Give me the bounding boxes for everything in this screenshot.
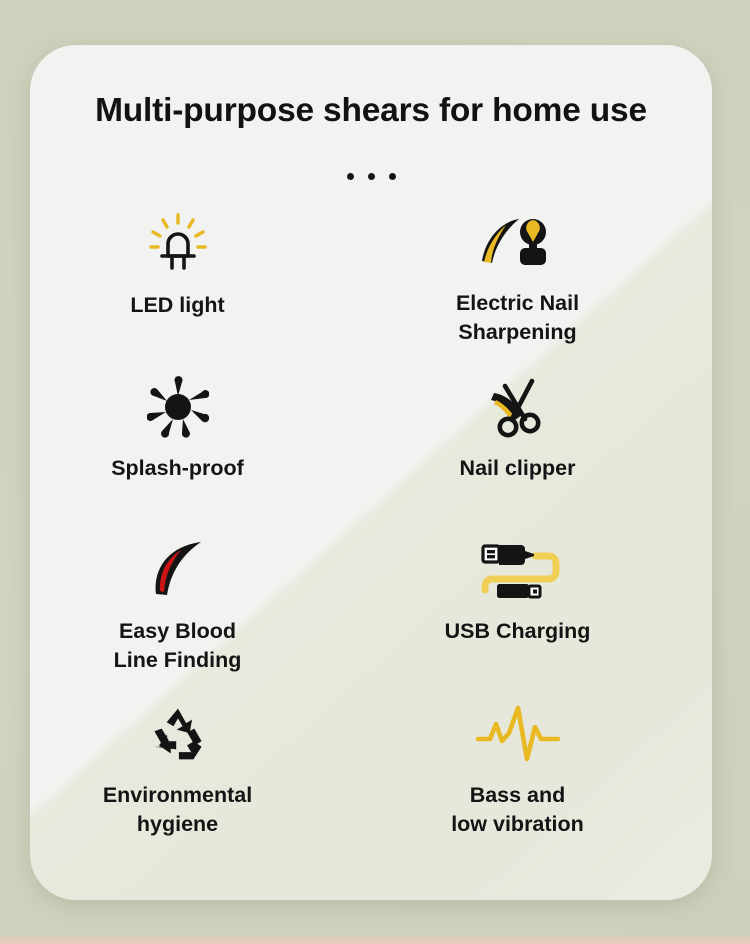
blood-line-claw-icon [30,531,348,609]
waveform-vibration-icon [347,695,688,773]
feature-label-line-1: Easy Blood [30,617,334,646]
feature-card: Multi-purpose shears for home use [30,45,712,900]
feature-item-bass-low-vibration: Bass and low vibration [371,695,712,838]
feature-label-line-1: Environmental [30,781,334,810]
feature-label: LED light [30,291,348,320]
feature-label-line-2: Sharpening [361,318,674,347]
page-background: Multi-purpose shears for home use [0,0,750,944]
feature-label-line-1: Bass and [361,781,674,810]
feature-label: USB Charging [347,617,688,646]
feature-item-electric-nail-sharpening: Electric Nail Sharpening [371,205,712,346]
feature-item-nail-clipper: Nail clipper [371,368,712,483]
feature-grid: LED light E [30,205,712,900]
feature-label-line-2: low vibration [361,810,674,839]
feature-label-line-2: Line Finding [30,646,334,675]
splash-proof-icon [30,368,348,446]
usb-charging-icon [347,531,688,609]
feature-label-line-1: Electric Nail [361,289,674,318]
recycling-icon [30,695,348,773]
feature-item-environmental-hygiene: Environmental hygiene [30,695,371,838]
feature-item-led-light: LED light [30,205,371,320]
led-light-icon [30,205,348,283]
feature-item-splash-proof: Splash-proof [30,368,371,483]
feature-item-blood-line-finding: Easy Blood Line Finding [30,531,371,674]
feature-label: Nail clipper [347,454,688,483]
bottom-color-strip [0,935,750,944]
dot-1 [347,173,354,180]
electric-nail-sharpening-icon [347,205,688,283]
nail-clipper-scissors-icon [347,368,688,446]
feature-label-line-2: hygiene [30,810,334,839]
dot-3 [389,173,396,180]
page-title: Multi-purpose shears for home use [30,92,712,130]
feature-item-usb-charging: USB Charging [371,531,712,646]
dot-2 [368,173,375,180]
three-dots-separator [30,173,712,180]
feature-label: Splash-proof [30,454,348,483]
